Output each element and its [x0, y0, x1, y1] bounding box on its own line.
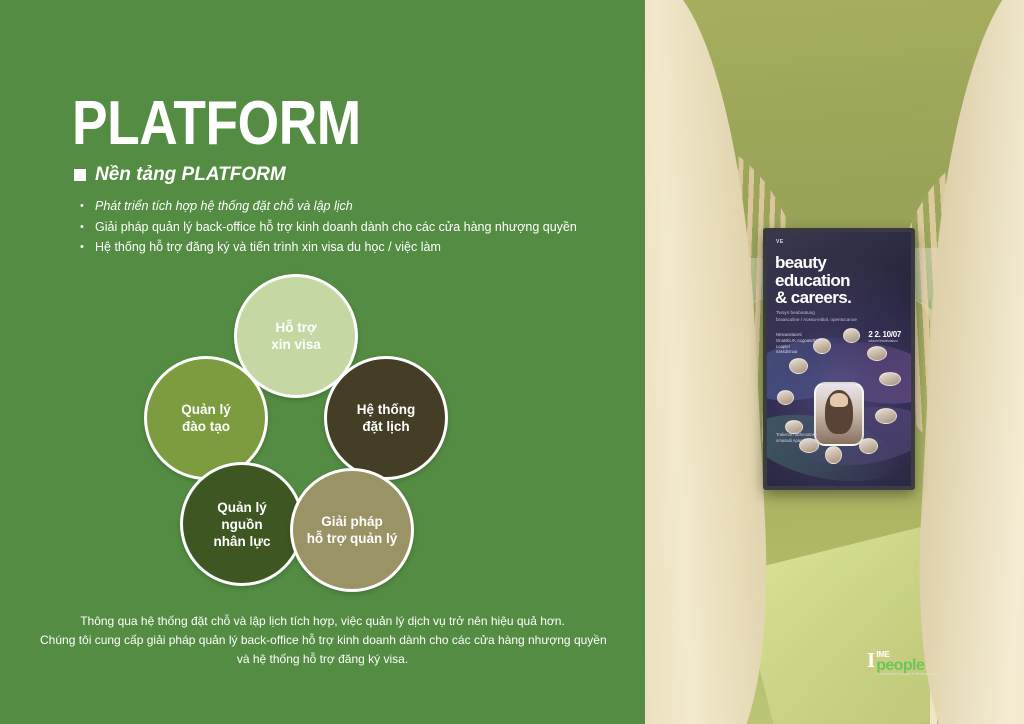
left-content-panel: PLATFORM Nền tảng PLATFORM • Phát triển …: [0, 0, 645, 724]
bullet-text: Hệ thống hỗ trợ đăng ký và tiến trình xi…: [95, 239, 441, 256]
circle-rosette-diagram: Hỗ trợ xin visa Quản lý đào tạo Hệ thống…: [130, 272, 490, 602]
interior-photograph: VE beauty education & careers. Twoyn bea…: [645, 0, 1024, 724]
bullet-list: • Phát triển tích hợp hệ thống đặt chỗ v…: [80, 198, 620, 260]
caption-line: Chúng tôi cung cấp giải pháp quản lý bac…: [40, 631, 605, 650]
bullet-text: Phát triển tích hợp hệ thống đặt chỗ và …: [95, 198, 353, 215]
diagram-circle-label: Hỗ trợ xin visa: [271, 319, 321, 353]
caption-block: Thông qua hệ thống đặt chỗ và lập lịch t…: [40, 612, 605, 669]
logo-letter-i: I: [867, 651, 875, 669]
section-heading: Nền tảng PLATFORM: [74, 164, 286, 186]
logo-tagline: Professional Beauty & Medical Staff: [876, 672, 937, 677]
list-item: • Hệ thống hỗ trợ đăng ký và tiến trình …: [80, 239, 620, 256]
ime-people-logo: I IME people Professional Beauty & Medic…: [867, 651, 937, 677]
diagram-circle-label: Giải pháp hỗ trợ quản lý: [307, 513, 398, 547]
signage-screen: VE beauty education & careers. Twoyn bea…: [767, 232, 911, 486]
caption-line: và hệ thống hỗ trợ đăng ký visa.: [40, 650, 605, 669]
screen-glare: [767, 232, 911, 486]
diagram-circle-label: Hệ thống đặt lịch: [357, 401, 416, 435]
list-item: • Giải pháp quản lý back-office hỗ trợ k…: [80, 219, 620, 236]
caption-line: Thông qua hệ thống đặt chỗ và lập lịch t…: [40, 612, 605, 631]
square-bullet-icon: [74, 169, 86, 181]
diagram-circle-management: Giải pháp hỗ trợ quản lý: [290, 468, 414, 592]
diagram-circle-label: Quản lý đào tạo: [181, 401, 231, 435]
digital-signage-kiosk[interactable]: VE beauty education & careers. Twoyn bea…: [763, 228, 915, 490]
bullet-dot-icon: •: [80, 239, 87, 256]
list-item: • Phát triển tích hợp hệ thống đặt chỗ v…: [80, 198, 620, 215]
logo-people-text: people: [876, 659, 937, 672]
diagram-circle-training: Quản lý đào tạo: [144, 356, 268, 480]
page-title: PLATFORM: [72, 95, 361, 153]
slide-platform: PLATFORM Nền tảng PLATFORM • Phát triển …: [0, 0, 1024, 724]
diagram-circle-booking: Hệ thống đặt lịch: [324, 356, 448, 480]
diagram-circle-label: Quản lý nguồn nhân lực: [213, 499, 270, 550]
diagram-circle-hr: Quản lý nguồn nhân lực: [180, 462, 304, 586]
bullet-dot-icon: •: [80, 198, 87, 215]
bullet-text: Giải pháp quản lý back-office hỗ trợ kin…: [95, 219, 577, 236]
bullet-dot-icon: •: [80, 219, 87, 236]
section-heading-label: Nền tảng PLATFORM: [95, 164, 286, 186]
